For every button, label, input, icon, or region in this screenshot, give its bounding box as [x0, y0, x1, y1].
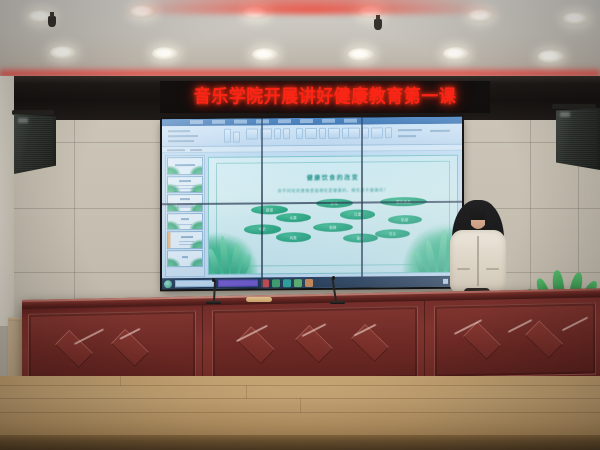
diamond-motif: [525, 320, 563, 358]
thumbnail-line: [178, 224, 192, 225]
mic-capsule: [332, 276, 335, 280]
frond: [238, 253, 253, 275]
ribbon-button[interactable]: [371, 127, 383, 138]
ribbon-button[interactable]: [362, 128, 369, 139]
leaf-decoration: [189, 238, 202, 247]
speaker-left: [14, 114, 56, 174]
thumbnail-title-bar: [179, 180, 191, 182]
subtoolbar-item[interactable]: [167, 149, 185, 151]
floor-plank-seam: [120, 376, 121, 386]
frond: [424, 240, 437, 275]
ceiling-downlight: [468, 9, 494, 22]
video-wall[interactable]: 健康饮食的改变 你平时吃的食物里面哪些是健康的，哪些是不健康的？ 蔬菜水果炸鸡汉…: [162, 117, 462, 290]
ribbon-button[interactable]: [224, 129, 231, 143]
floor-plank-seam: [246, 385, 247, 399]
thumbnail-title-bar: [181, 218, 189, 220]
leaf-decoration: [189, 257, 202, 266]
microphone-left: [206, 280, 222, 304]
led-banner-text: 音乐学院开展讲好健康教育第一课: [194, 88, 457, 106]
ribbon-button[interactable]: [260, 128, 272, 139]
ribbon-tab[interactable]: [190, 120, 203, 124]
app-icon-lime[interactable]: [294, 279, 302, 287]
ribbon-button[interactable]: [246, 128, 258, 139]
speaker-grille: [559, 111, 597, 167]
stage-floor: [0, 376, 600, 450]
ribbon-group-drawing[interactable]: [348, 127, 392, 138]
ribbon-button[interactable]: [283, 128, 290, 139]
floor-plank-seam: [0, 385, 600, 386]
powerpoint-window[interactable]: 健康饮食的改变 你平时吃的食物里面哪些是健康的，哪些是不健康的？ 蔬菜水果炸鸡汉…: [162, 117, 462, 290]
slide-canvas[interactable]: 健康饮食的改变 你平时吃的食物里面哪些是健康的，哪些是不健康的？ 蔬菜水果炸鸡汉…: [208, 155, 458, 275]
ribbon-button[interactable]: [348, 128, 360, 139]
slide-bubble-group: 蔬菜水果炸鸡汉堡膨化食品奶茶牛奶鸡蛋粗粮薯片可乐: [209, 156, 457, 158]
ceiling-downlight: [152, 47, 178, 60]
ceiling-downlight: [243, 6, 269, 19]
ribbon-group-label: [168, 130, 190, 132]
leaf-decoration: [168, 257, 181, 266]
podium-panel: [28, 311, 196, 386]
speaker-bracket-right: [552, 104, 596, 109]
app-icon-green[interactable]: [272, 279, 280, 287]
ribbon-group-paragraph[interactable]: [296, 128, 349, 139]
ceiling-camera-icon: [48, 16, 56, 27]
floor-plank-seam: [300, 398, 301, 413]
jacket-pocket: [457, 268, 470, 270]
ribbon-group-font[interactable]: [246, 128, 290, 139]
ribbon-button[interactable]: [385, 127, 392, 138]
ceiling-downlight: [252, 48, 278, 61]
slide-bubble: 汉堡: [340, 210, 375, 220]
mic-gooseneck: [331, 278, 336, 301]
ribbon-button[interactable]: [328, 128, 340, 139]
jacket-pocket: [486, 268, 499, 270]
app-icon-teal[interactable]: [283, 279, 291, 287]
ribbon-button[interactable]: [233, 132, 240, 143]
ribbon-tab[interactable]: [234, 120, 247, 124]
slide-bubble: 水果: [276, 213, 311, 223]
podium-panel: [212, 306, 418, 382]
ribbon-group-label: [398, 135, 416, 137]
ceiling-downlight: [358, 5, 384, 18]
thumbnail-line: [179, 244, 194, 245]
mic-capsule: [212, 278, 215, 282]
mic-base: [330, 301, 345, 304]
slide-bubble: 牛奶: [244, 225, 281, 235]
ceiling: [0, 0, 600, 76]
speaker-highlight: [560, 112, 570, 117]
ceiling-downlight: [443, 47, 469, 60]
taskbar-window-button-active[interactable]: [218, 279, 258, 286]
mic-base: [206, 301, 221, 304]
panel-highlight: [74, 328, 104, 344]
frond: [219, 236, 230, 275]
leaf-decoration: [168, 220, 181, 229]
led-banner-panel: 音乐学院开展讲好健康教育第一课: [160, 81, 490, 113]
ceiling-downlight: [563, 12, 589, 25]
ceiling-camera-icon: [374, 19, 382, 30]
ribbon-tab[interactable]: [344, 119, 357, 123]
led-banner-glow: [120, 0, 500, 14]
frond: [412, 250, 428, 275]
lecture-hall-photo: 音乐学院开展讲好健康教育第一课: [0, 0, 600, 450]
slide-thumbnail[interactable]: [167, 194, 203, 212]
slide-thumbnail[interactable]: [167, 157, 203, 175]
ceiling-downlight: [130, 5, 156, 18]
ribbon-tab[interactable]: [300, 119, 313, 123]
ribbon-group-label: [168, 135, 198, 137]
slide-thumbnail[interactable]: [167, 249, 203, 267]
powerpoint-subtoolbar[interactable]: [162, 145, 462, 154]
ribbon-group-clipboard[interactable]: [224, 129, 240, 143]
slide-thumbnail-rail[interactable]: [165, 155, 205, 277]
speaker-highlight: [18, 118, 28, 123]
thumbnail-title-bar: [175, 164, 195, 166]
app-icon-orange[interactable]: [305, 278, 313, 286]
ribbon-button[interactable]: [319, 128, 326, 139]
ribbon-group-label: [430, 130, 450, 132]
ribbon-group-label: [398, 129, 422, 131]
app-icon-red[interactable]: [261, 279, 269, 287]
speaker-right: [556, 108, 600, 170]
diamond-motif: [351, 324, 389, 362]
thumbnail-line: [179, 241, 194, 242]
slide-thumbnail[interactable]: [167, 212, 203, 230]
slide-bubble: 鸡蛋: [276, 232, 311, 242]
thumbnail-line: [174, 185, 196, 186]
speaker-grille: [17, 117, 53, 171]
stage-front-edge: [0, 435, 600, 450]
slide-thumbnail[interactable]: [167, 231, 203, 249]
subtoolbar-item[interactable]: [190, 149, 202, 151]
start-button-icon[interactable]: [164, 280, 172, 288]
ribbon-tab[interactable]: [212, 120, 225, 124]
ceiling-downlight: [50, 46, 76, 59]
ribbon-tabs[interactable]: [190, 119, 357, 124]
desk-folder: [246, 297, 272, 302]
ribbon-tab[interactable]: [256, 119, 269, 123]
powerpoint-ribbon[interactable]: [162, 124, 462, 148]
microphone-right: [330, 278, 346, 304]
thumbnail-title-bar: [182, 256, 188, 258]
ribbon-button[interactable]: [305, 128, 317, 139]
thumbnail-line: [174, 188, 196, 189]
slide-bubble: 薯片: [343, 233, 378, 243]
jacket: [450, 230, 506, 292]
mic-gooseneck: [213, 280, 216, 301]
ribbon-tab[interactable]: [322, 119, 335, 123]
thumbnail-line: [177, 203, 193, 208]
slide-thumbnail[interactable]: [167, 175, 203, 193]
ceiling-downlight: [538, 50, 564, 63]
ribbon-button[interactable]: [296, 128, 303, 139]
thumbnail-title-bar: [181, 236, 193, 238]
led-banner-housing: 音乐学院开展讲好健康教育第一课: [14, 76, 600, 120]
slide-bubble: 蔬菜: [251, 205, 288, 215]
thumbnail-title-bar: [180, 198, 190, 200]
ribbon-tab[interactable]: [278, 119, 291, 123]
ceiling-downlight: [348, 48, 374, 61]
thumbnail-line: [174, 191, 196, 192]
podium-panel: [434, 302, 596, 377]
ribbon-group-label: [168, 140, 194, 142]
ribbon-button[interactable]: [274, 128, 281, 139]
panel-highlight: [562, 317, 588, 332]
